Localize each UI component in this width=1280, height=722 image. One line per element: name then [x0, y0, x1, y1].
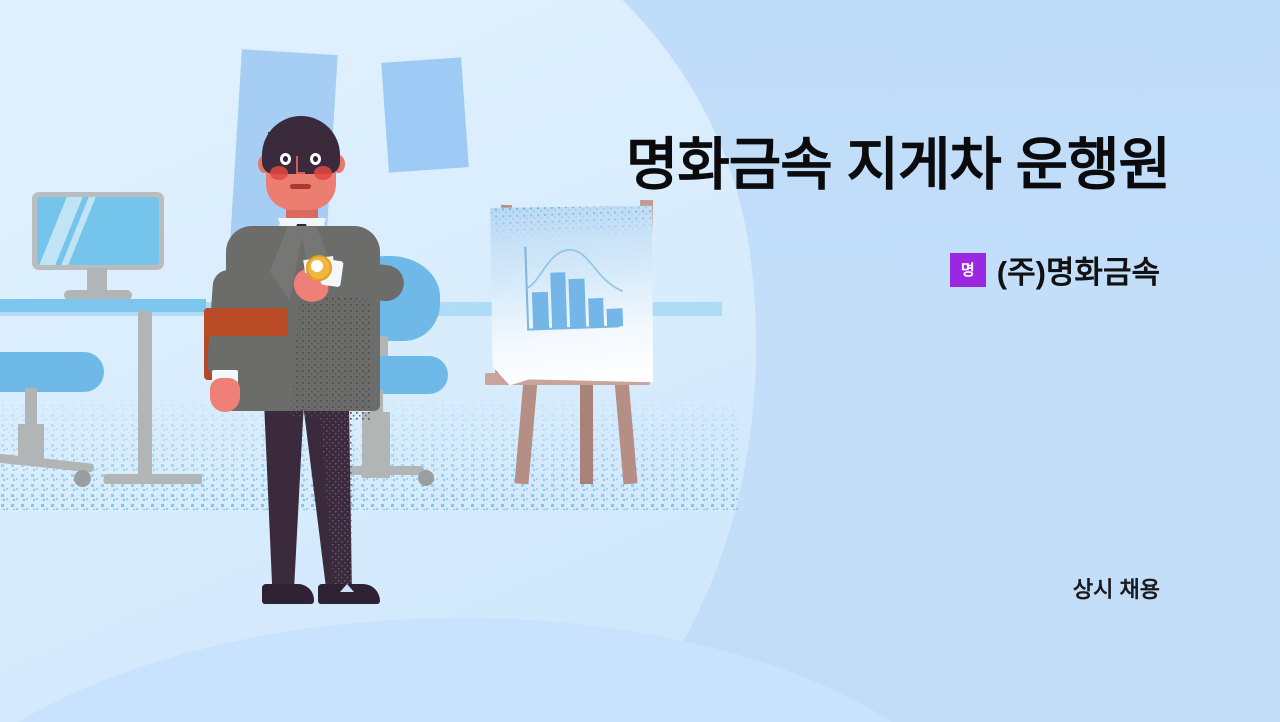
monitor-stand-neck	[87, 268, 107, 292]
easel-leg-middle	[580, 380, 593, 484]
page-title: 명화금속 지게차 운행원	[470, 134, 1170, 198]
leg-left	[262, 396, 306, 596]
chart-bar	[607, 309, 623, 327]
briefcase-flap	[204, 308, 288, 336]
company-row: 명 (주)명화금속	[950, 247, 1160, 292]
shoe-left	[262, 584, 314, 604]
nose	[296, 156, 305, 174]
desk-base	[104, 474, 202, 484]
desk-leg	[138, 311, 152, 478]
cheek-blush-left	[270, 166, 288, 180]
chair-left-seat	[0, 352, 104, 392]
pupil-left	[283, 156, 288, 162]
poster-canvas: 명화금속 지게차 운행원 명 (주)명화금속 상시 채용	[0, 0, 1280, 722]
monitor-screen	[37, 197, 159, 265]
flipchart-paper	[487, 202, 658, 388]
hand-left	[210, 378, 240, 412]
chair-right-wheel	[418, 470, 434, 486]
chart-trend-curve	[522, 241, 624, 310]
company-badge: 명	[950, 253, 986, 287]
company-name: (주)명화금속	[997, 247, 1160, 292]
chair-left-wheel	[74, 470, 91, 487]
suit-texture	[290, 280, 370, 420]
wristwatch-dial	[311, 260, 323, 272]
mouth	[290, 184, 311, 189]
status-badge: 상시 채용	[1073, 572, 1160, 604]
desk-surface	[0, 299, 206, 312]
pupil-right	[313, 156, 318, 162]
businessman-illustration	[190, 100, 420, 612]
cheek-blush-right	[314, 166, 332, 180]
chair-left-cylinder	[18, 424, 44, 460]
paper-top-speckle	[487, 202, 653, 242]
